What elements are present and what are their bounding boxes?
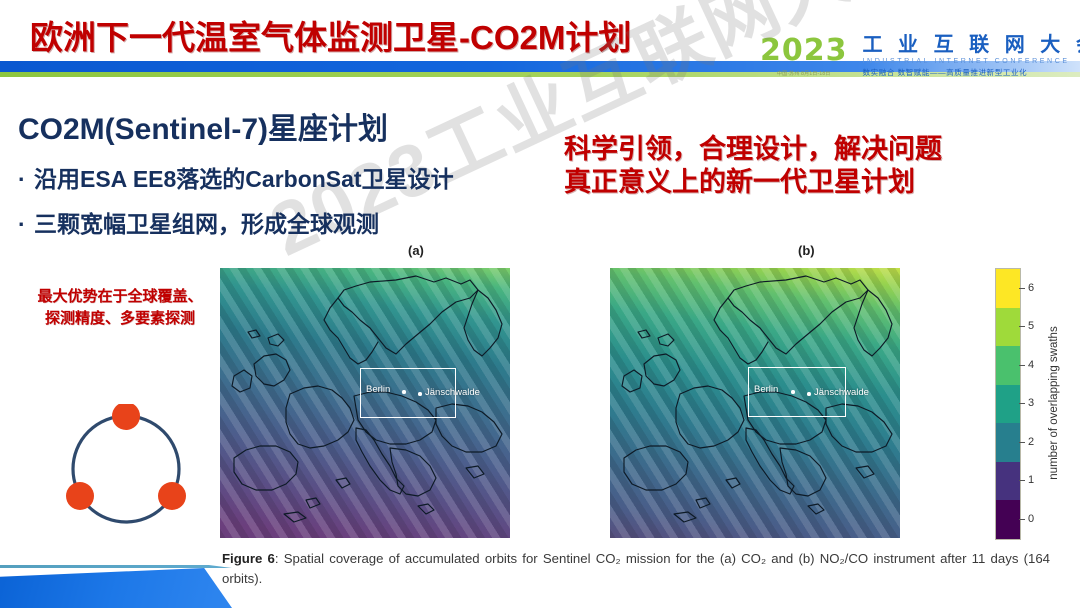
map-panel-a: Berlin Jänschwalde [220, 268, 510, 538]
map-panel-b: Berlin Jänschwalde [610, 268, 900, 538]
bullet-marker-icon: · [18, 211, 34, 238]
page-title: 欧洲下一代温室气体监测卫星-CO2M计划 [30, 11, 631, 59]
colorbar-tick-3: 3 [1028, 397, 1034, 409]
logo-year-block: 2023 中国·苏州 8月1日-18日 [760, 36, 855, 77]
figure-caption-prefix: Figure 6 [222, 551, 275, 566]
colorbar-band-1 [996, 462, 1020, 501]
figure-caption-text: : Spatial coverage of accumulated orbits… [222, 551, 1050, 586]
logo-slogan: 数实融合 数智赋能——高质量推进新型工业化 [863, 67, 1080, 78]
bullet-item-1-label: 沿用ESA EE8落选的CarbonSat卫星设计 [34, 166, 454, 192]
colorbar-band-2 [996, 423, 1020, 462]
colorbar-tick-5: 5 [1028, 320, 1034, 332]
red-callout-line-1: 科学引领，合理设计，解决问题 [564, 133, 942, 166]
logo-name-cn: 工 业 互 联 网 大 会 [863, 35, 1080, 56]
bullet-item-1: ·沿用ESA EE8落选的CarbonSat卫星设计 [18, 160, 454, 194]
colorbar-tick-2: 2 [1028, 436, 1034, 448]
colorbar [995, 268, 1021, 540]
colorbar-tick-1: 1 [1028, 474, 1034, 486]
slide-canvas: 欧洲下一代温室气体监测卫星-CO2M计划 2023 中国·苏州 8月1日-18日… [0, 0, 1080, 608]
bullet-item-2-label: 三颗宽幅卫星组网，形成全球观测 [34, 211, 379, 237]
bullet-marker-icon: · [18, 166, 34, 193]
colorbar-axis-label: number of overlapping swaths [1042, 268, 1066, 538]
red-callout-line-2: 真正意义上的新一代卫星计划 [564, 166, 942, 199]
map-b-city-label-jaenschwalde: Jänschwalde [814, 387, 869, 398]
logo-name-en: INDUSTRIAL INTERNET CONFERENCE [863, 58, 1080, 65]
colorbar-band-0 [996, 500, 1020, 539]
map-b-city-label-berlin: Berlin [754, 384, 778, 395]
bullet-item-2: ·三颗宽幅卫星组网，形成全球观测 [18, 205, 379, 239]
panel-b-label: (b) [798, 243, 815, 258]
colorbar-band-5 [996, 308, 1020, 347]
panel-a-label: (a) [408, 243, 424, 258]
colorbar-band-4 [996, 346, 1020, 385]
map-a-city-dot-berlin [402, 390, 406, 394]
logo-year-subtitle: 中国·苏州 8月1日-18日 [777, 70, 831, 77]
logo-year: 2023 [760, 36, 848, 66]
logo-name-block: 工 业 互 联 网 大 会 INDUSTRIAL INTERNET CONFER… [855, 35, 1080, 78]
colorbar-tick-6: 6 [1028, 282, 1034, 294]
colorbar-band-6 [996, 269, 1020, 308]
colorbar-tick-4: 4 [1028, 359, 1034, 371]
red-side-note: 最大优势在于全球覆盖、探测精度、多要素探测 [32, 286, 208, 330]
footer-shape [0, 568, 232, 608]
conference-logo: 2023 中国·苏州 8月1日-18日 工 业 互 联 网 大 会 INDUST… [760, 30, 1072, 82]
map-a-city-label-jaenschwalde: Jänschwalde [425, 387, 480, 398]
section-title: CO2M(Sentinel-7)星座计划 [18, 104, 388, 148]
map-a-city-dot-jaenschwalde [418, 392, 422, 396]
colorbar-band-3 [996, 385, 1020, 424]
footer-accent-line [0, 565, 232, 568]
map-b-city-dot-jaenschwalde [807, 392, 811, 396]
red-callout: 科学引领，合理设计，解决问题 真正意义上的新一代卫星计划 [564, 133, 942, 199]
map-b-city-dot-berlin [791, 390, 795, 394]
satellite-constellation-icon [46, 404, 206, 534]
map-a-city-label-berlin: Berlin [366, 384, 390, 395]
figure-caption: Figure 6: Spatial coverage of accumulate… [222, 549, 1050, 589]
colorbar-tick-0: 0 [1028, 513, 1034, 525]
